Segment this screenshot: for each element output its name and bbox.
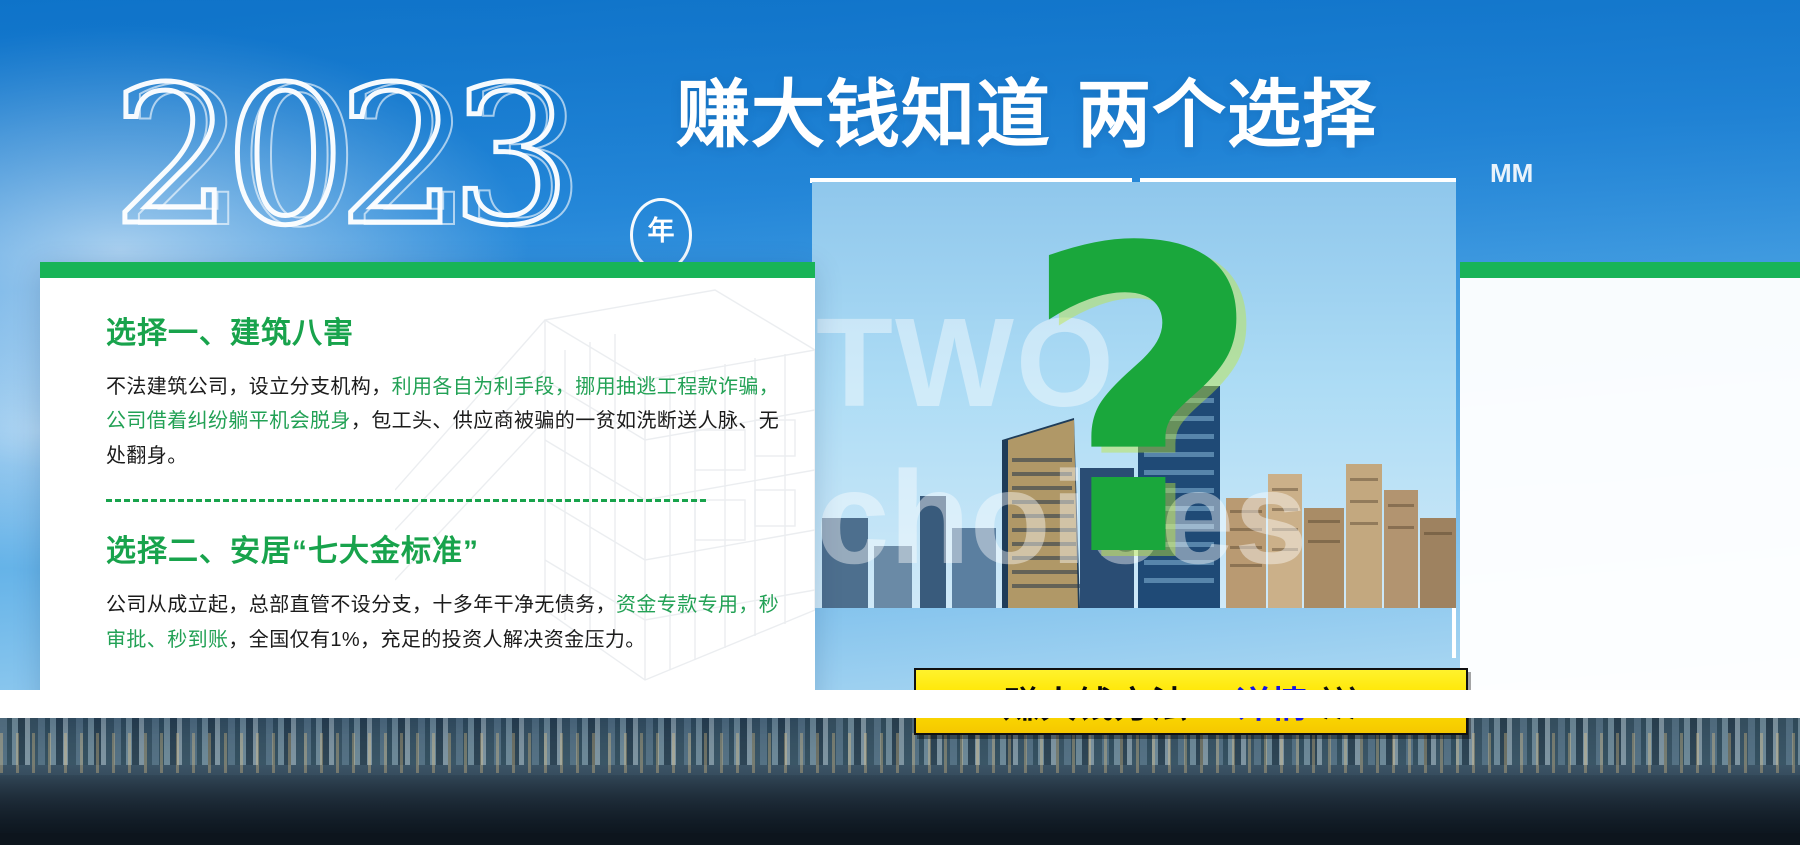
- corner-mark: MM: [1490, 158, 1533, 189]
- bottom-white-strip: [0, 690, 1800, 718]
- section-title-1: 选择一、建筑八害: [106, 308, 785, 352]
- year-2023-outline: 2023 2023: [112, 62, 564, 252]
- card-top-green-bar: [40, 262, 815, 278]
- year-suffix-badge: 年: [630, 198, 692, 272]
- page-title: 赚大钱知道两个选择: [676, 78, 1377, 152]
- section-2-text-a: 公司从成立起，总部直管不设分支，十多年干净无债务，: [106, 594, 616, 616]
- bottom-edge-bar: [0, 833, 1800, 845]
- card-content: 选择一、建筑八害 不法建筑公司，设立分支机构，利用各自为利手段，挪用抽逃工程款诈…: [106, 308, 785, 657]
- headline-part-2: 两个选择: [1077, 73, 1377, 156]
- content-card: 选择一、建筑八害 不法建筑公司，设立分支机构，利用各自为利手段，挪用抽逃工程款诈…: [40, 262, 815, 717]
- right-white-panel: [1460, 278, 1800, 718]
- year-2023-ghost: 2023: [126, 64, 578, 254]
- section-2-text-c: ，全国仅有1%，充足的投资人解决资金压力。: [228, 629, 645, 651]
- right-green-bar: [1460, 262, 1800, 278]
- section-divider: [106, 499, 706, 502]
- city-lights: [0, 733, 1800, 773]
- city-photo-band: [0, 717, 1800, 845]
- poster-canvas: 2023 2023 年 MM 赚大钱知道两个选择: [0, 0, 1800, 845]
- section-title-2: 选择二、安居“七大金标准”: [106, 526, 785, 570]
- section-body-2: 公司从成立起，总部直管不设分支，十多年干净无债务，资金专款专用，秒审批、秒到账，…: [106, 588, 785, 657]
- section-body-1: 不法建筑公司，设立分支机构，利用各自为利手段，挪用抽逃工程款诈骗，公司借着纠纷躺…: [106, 370, 785, 473]
- headline-part-1: 赚大钱知道: [676, 73, 1051, 156]
- question-mark-graphic: ?: [1020, 196, 1264, 616]
- section-1-text-a: 不法建筑公司，设立分支机构，: [106, 376, 392, 398]
